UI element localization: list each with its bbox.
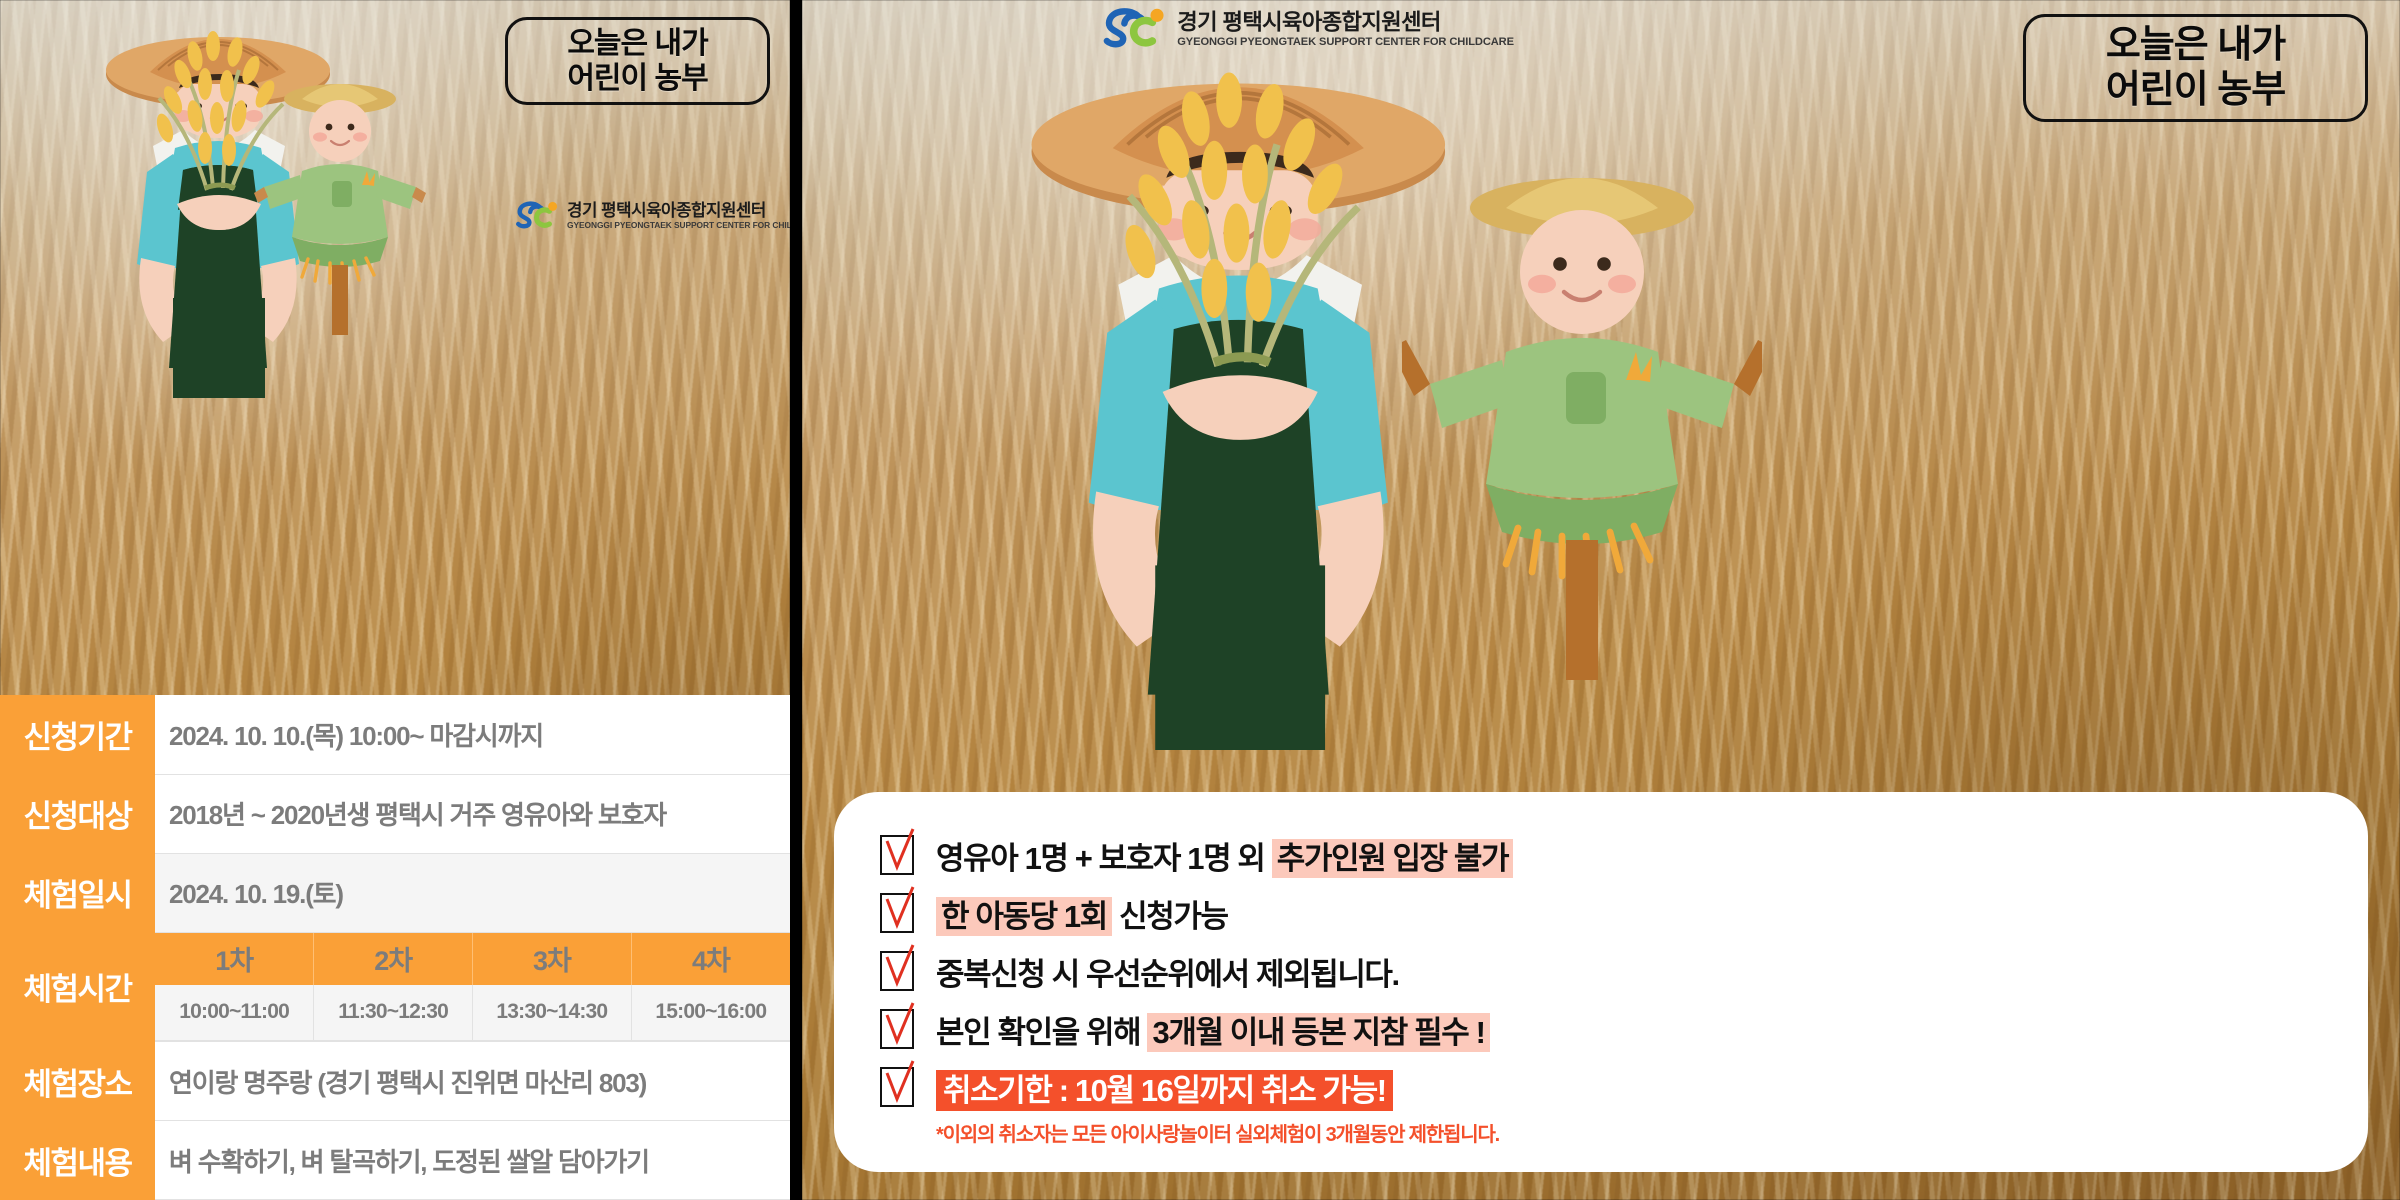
notice-pre: 본인 확인을 위해 [936, 1015, 1147, 1050]
notice-footnote: *이외의 취소자는 모든 아이사랑놀이터 실외체험이 3개월동안 제한됩니다. [936, 1118, 2334, 1147]
table-row: 체험내용 벼 수확하기, 벼 탈곡하기, 도정된 쌀알 담아가기 [0, 1121, 790, 1200]
program-info-table: 신청기간 2024. 10. 10.(목) 10:00~ 마감시까지 신청대상 … [0, 695, 790, 1200]
schedule-time: 10:00~11:00 [155, 985, 314, 1041]
brand-logo: 경기 평택시육아종합지원센터 GYEONGGI PYEONGTAEK SUPPO… [1102, 6, 1514, 53]
row-label: 신청기간 [0, 695, 155, 774]
table-row-schedule: 체험시간 1차 2차 3차 4차 [0, 932, 790, 1042]
row-value: 연이랑 명주랑 (경기 평택시 진위면 마산리 803) [155, 1042, 790, 1121]
schedule-header: 2차 [314, 933, 473, 985]
row-label: 체험내용 [0, 1121, 155, 1200]
brand-name-ko: 경기 평택시육아종합지원센터 [1177, 11, 1514, 33]
sc-childcare-logo-icon [515, 200, 560, 232]
schedule-time: 11:30~12:30 [314, 985, 473, 1041]
notice-text: 한 아동당 1회 신청가능 [936, 891, 1228, 936]
table-row: 체험장소 연이랑 명주랑 (경기 평택시 진위면 마산리 803) [0, 1042, 790, 1121]
row-label: 체험일시 [0, 853, 155, 932]
notice-text: 본인 확인을 위해 3개월 이내 등본 지참 필수 ! [936, 1007, 1490, 1052]
notice-item: 본인 확인을 위해 3개월 이내 등본 지참 필수 ! [880, 1000, 2334, 1058]
row-value: 2024. 10. 19.(토) [155, 853, 790, 932]
checkbox-checked-icon [880, 835, 914, 875]
poster-root: 오늘은 내가 어린이 농부 경기 평택시육아종합지원센터 GYEONGGI PY… [0, 0, 2400, 1200]
schedule-header: 4차 [631, 933, 790, 985]
checkbox-checked-icon [880, 1009, 914, 1049]
right-panel: 경기 평택시육아종합지원센터 GYEONGGI PYEONGTAEK SUPPO… [802, 0, 2400, 1200]
row-label: 신청대상 [0, 774, 155, 853]
brand-name-en: GYEONGGI PYEONGTAEK SUPPORT CENTER FOR C… [567, 221, 790, 229]
notice-highlight: 3개월 이내 등본 지참 필수 ! [1147, 1013, 1489, 1052]
schedule-time-row: 10:00~11:00 11:30~12:30 13:30~14:30 15:0… [155, 985, 790, 1041]
notice-post: 신청가능 [1112, 899, 1228, 934]
table-row: 신청대상 2018년 ~ 2020년생 평택시 거주 영유아와 보호자 [0, 774, 790, 853]
table-row: 신청기간 2024. 10. 10.(목) 10:00~ 마감시까지 [0, 695, 790, 774]
schedule-header: 3차 [473, 933, 632, 985]
row-label: 체험시간 [0, 932, 155, 1042]
schedule-cell: 1차 2차 3차 4차 10:00~11:00 11:30~12:30 [155, 932, 790, 1042]
table-row: 체험일시 2024. 10. 19.(토) [0, 853, 790, 932]
checkbox-checked-icon [880, 951, 914, 991]
notice-item: 영유아 1명 + 보호자 1명 외 추가인원 입장 불가 [880, 826, 2334, 884]
panel-divider [790, 0, 802, 1200]
checkbox-checked-icon [880, 893, 914, 933]
row-value: 벼 수확하기, 벼 탈곡하기, 도정된 쌀알 담아가기 [155, 1121, 790, 1200]
notice-item: 취소기한 : 10월 16일까지 취소 가능! [880, 1058, 2334, 1116]
poster-title-line1: 오늘은 내가 [2106, 23, 2285, 68]
notice-pre: 중복신청 시 우선순위에서 제외됩니다. [936, 957, 1399, 992]
left-panel: 오늘은 내가 어린이 농부 경기 평택시육아종합지원센터 GYEONGGI PY… [0, 0, 790, 1200]
schedule-time: 15:00~16:00 [631, 985, 790, 1041]
schedule-table: 1차 2차 3차 4차 10:00~11:00 11:30~12:30 [155, 933, 790, 1042]
notice-item: 중복신청 시 우선순위에서 제외됩니다. [880, 942, 2334, 1000]
poster-title-line2: 어린이 농부 [567, 61, 707, 96]
notice-highlight: 한 아동당 1회 [936, 897, 1112, 936]
notice-item: 한 아동당 1회 신청가능 [880, 884, 2334, 942]
row-value: 2024. 10. 10.(목) 10:00~ 마감시까지 [155, 695, 790, 774]
poster-title-box: 오늘은 내가 어린이 농부 [2023, 14, 2368, 122]
schedule-time: 13:30~14:30 [473, 985, 632, 1041]
schedule-header: 1차 [155, 933, 314, 985]
schedule-header-row: 1차 2차 3차 4차 [155, 933, 790, 985]
notice-text: 영유아 1명 + 보호자 1명 외 추가인원 입장 불가 [936, 833, 1513, 878]
poster-title-box: 오늘은 내가 어린이 농부 [505, 17, 770, 105]
brand-logo: 경기 평택시육아종합지원센터 GYEONGGI PYEONGTAEK SUPPO… [515, 200, 790, 232]
row-value: 2018년 ~ 2020년생 평택시 거주 영유아와 보호자 [155, 774, 790, 853]
scarecrow-illustration [250, 55, 430, 335]
sc-childcare-logo-icon [1102, 6, 1168, 53]
brand-name-ko: 경기 평택시육아종합지원센터 [567, 202, 790, 219]
poster-title-line2: 어린이 농부 [2106, 68, 2285, 113]
notice-pre: 영유아 1명 + 보호자 1명 외 [936, 841, 1272, 876]
notice-highlight: 취소기한 : 10월 16일까지 취소 가능! [936, 1070, 1393, 1111]
checkbox-checked-icon [880, 1067, 914, 1107]
notice-text: 취소기한 : 10월 16일까지 취소 가능! [936, 1065, 1393, 1110]
poster-title-line1: 오늘은 내가 [567, 26, 707, 61]
scarecrow-illustration [1402, 120, 1762, 680]
notice-highlight: 추가인원 입장 불가 [1272, 839, 1513, 878]
notice-text: 중복신청 시 우선순위에서 제외됩니다. [936, 949, 1399, 994]
brand-name-en: GYEONGGI PYEONGTAEK SUPPORT CENTER FOR C… [1177, 36, 1514, 47]
row-label: 체험장소 [0, 1042, 155, 1121]
notice-card: 영유아 1명 + 보호자 1명 외 추가인원 입장 불가 한 아동당 1회 신청… [834, 792, 2368, 1172]
